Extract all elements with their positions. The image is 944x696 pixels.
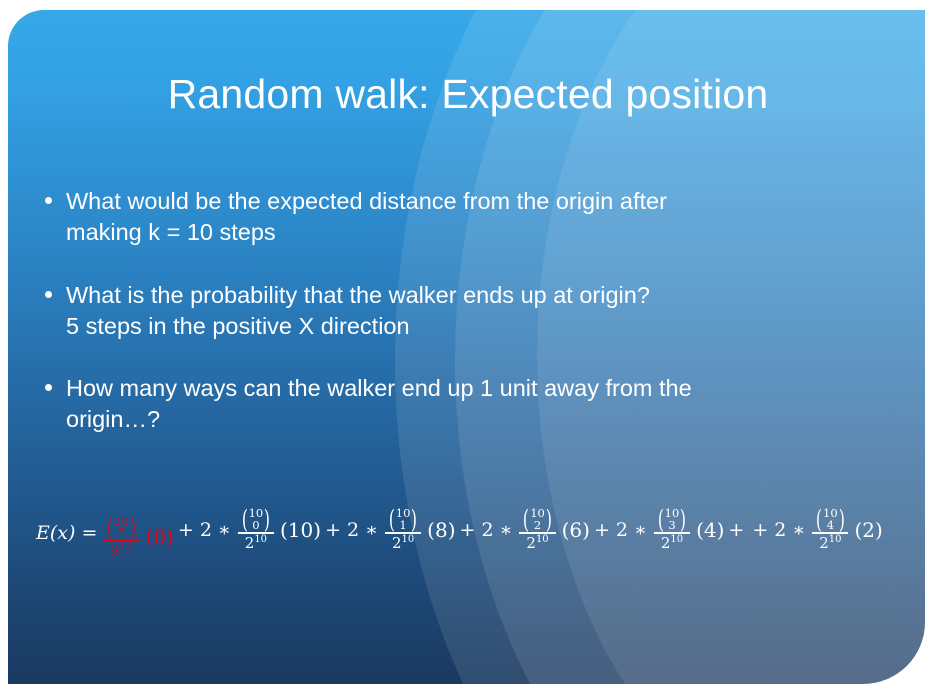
binomial-open-paren: ( — [389, 509, 395, 531]
fraction-numerator: (101) — [385, 508, 421, 532]
binomial-coefficient: (105) — [105, 516, 137, 539]
binomial-close-paren: ) — [839, 509, 845, 531]
binomial-close-paren: ) — [130, 517, 136, 539]
denominator-base: 2 — [661, 534, 671, 552]
bullet-line: origin…? — [66, 404, 896, 435]
equation-fraction: (105)210 — [103, 516, 139, 559]
equation-multiply-operator: ∗ — [218, 519, 231, 541]
equation-term-value: (0) — [146, 525, 174, 549]
bullet-line: How many ways can the walker end up 1 un… — [66, 373, 896, 404]
fraction-denominator: 210 — [390, 534, 416, 551]
equation-term-value: (2) — [854, 518, 882, 542]
binomial-stack: 100 — [249, 508, 264, 531]
bullet-item-3: How many ways can the walker end up 1 un… — [36, 373, 896, 436]
bullet-item-2: What is the probability that the walker … — [36, 280, 896, 343]
binomial-close-paren: ) — [680, 509, 686, 531]
bullet-dot-icon — [45, 384, 52, 391]
binomial-coefficient: (101) — [387, 508, 419, 531]
equation-fraction: (100)210 — [238, 508, 274, 551]
bullet-dot-icon — [45, 197, 52, 204]
equation-term: 2∗(102)210(6) — [479, 508, 590, 551]
binomial-stack: 102 — [530, 508, 545, 531]
equation-term-value: (10) — [280, 518, 321, 542]
equation-coefficient: 2 — [774, 519, 786, 541]
denominator-base: 2 — [526, 534, 536, 552]
equation-coefficient: 2 — [347, 519, 359, 541]
equation-fraction: (102)210 — [519, 508, 555, 551]
equation-coefficient: 2 — [481, 519, 493, 541]
denominator-exponent: 10 — [829, 534, 842, 545]
denominator-base: 2 — [819, 534, 829, 552]
bullet-dot-icon — [45, 291, 52, 298]
binomial-stack: 104 — [823, 508, 838, 531]
equation-term: 2∗(104)210(2) — [772, 508, 883, 551]
denominator-exponent: 10 — [670, 534, 683, 545]
binomial-stack: 105 — [114, 516, 129, 539]
equation-plus-operator: + — [178, 519, 194, 541]
bullet-line: 5 steps in the positive X direction — [66, 311, 896, 342]
equation-plus-operator: + — [460, 519, 476, 541]
binomial-k: 5 — [118, 527, 125, 539]
equation-term: 2∗(103)210(4) — [614, 508, 725, 551]
fraction-numerator: (104) — [812, 508, 848, 532]
expected-value-equation: E(x) = (105)210(0)+2∗(100)210(10)+2∗(101… — [36, 508, 916, 559]
binomial-stack: 103 — [665, 508, 680, 531]
equation-multiply-operator: ∗ — [792, 519, 805, 541]
equation-multiply-operator: ∗ — [634, 519, 647, 541]
binomial-open-paren: ( — [658, 509, 664, 531]
equation-term: 2∗(100)210(10) — [198, 508, 321, 551]
binomial-coefficient: (102) — [521, 508, 553, 531]
binomial-k: 2 — [534, 520, 541, 532]
denominator-exponent: 10 — [254, 534, 267, 545]
equation-term: (105)210(0) — [100, 516, 174, 559]
binomial-open-paren: ( — [242, 509, 248, 531]
binomial-stack: 101 — [396, 508, 411, 531]
fraction-denominator: 210 — [243, 534, 269, 551]
fraction-denominator: 210 — [817, 534, 843, 551]
binomial-open-paren: ( — [523, 509, 529, 531]
fraction-numerator: (100) — [238, 508, 274, 532]
denominator-base: 2 — [245, 534, 255, 552]
binomial-coefficient: (100) — [240, 508, 272, 531]
bullet-line: What would be the expected distance from… — [66, 186, 896, 217]
equation-term: 2∗(101)210(8) — [345, 508, 456, 551]
binomial-close-paren: ) — [264, 509, 270, 531]
denominator-exponent: 10 — [536, 534, 549, 545]
binomial-k: 0 — [252, 520, 259, 532]
fraction-numerator: (102) — [519, 508, 555, 532]
equation-terms: (105)210(0)+2∗(100)210(10)+2∗(101)210(8)… — [100, 508, 882, 559]
equation-term-value: (8) — [427, 518, 455, 542]
equation-fraction: (104)210 — [812, 508, 848, 551]
equation-term-value: (4) — [696, 518, 724, 542]
slide-title: Random walk: Expected position — [48, 72, 888, 117]
equation-term-value: (6) — [562, 518, 590, 542]
equation-plus-operator: + — [325, 519, 341, 541]
equation-coefficient: 2 — [200, 519, 212, 541]
fraction-numerator: (105) — [103, 516, 139, 540]
equation-plus-operator: + — [728, 519, 744, 541]
binomial-coefficient: (103) — [656, 508, 688, 531]
binomial-k: 4 — [827, 520, 834, 532]
binomial-close-paren: ) — [546, 509, 552, 531]
equation-fraction: (103)210 — [654, 508, 690, 551]
binomial-k: 3 — [668, 520, 675, 532]
slide-canvas: Random walk: Expected position What woul… — [0, 0, 944, 696]
bullet-item-1: What would be the expected distance from… — [36, 186, 896, 249]
binomial-open-paren: ( — [816, 509, 822, 531]
equation-coefficient: 2 — [616, 519, 628, 541]
denominator-exponent: 10 — [401, 534, 414, 545]
equation-lhs: E(x) = — [36, 522, 97, 544]
equation-plus-operator: + — [594, 519, 610, 541]
binomial-close-paren: ) — [411, 509, 417, 531]
bullet-list: What would be the expected distance from… — [36, 186, 896, 436]
bullet-line: making k = 10 steps — [66, 217, 896, 248]
fraction-numerator: (103) — [654, 508, 690, 532]
denominator-exponent: 10 — [120, 542, 133, 553]
fraction-denominator: 210 — [659, 534, 685, 551]
equation-plus-operator: + — [752, 519, 768, 541]
binomial-k: 1 — [399, 520, 406, 532]
equation-multiply-operator: ∗ — [500, 519, 513, 541]
fraction-denominator: 210 — [108, 542, 134, 559]
fraction-denominator: 210 — [524, 534, 550, 551]
bullet-line: What is the probability that the walker … — [66, 280, 896, 311]
equation-multiply-operator: ∗ — [365, 519, 378, 541]
binomial-coefficient: (104) — [814, 508, 846, 531]
equation-fraction: (101)210 — [385, 508, 421, 551]
binomial-open-paren: ( — [107, 517, 113, 539]
slide-body: Random walk: Expected position What woul… — [8, 10, 925, 684]
denominator-base: 2 — [110, 542, 120, 560]
